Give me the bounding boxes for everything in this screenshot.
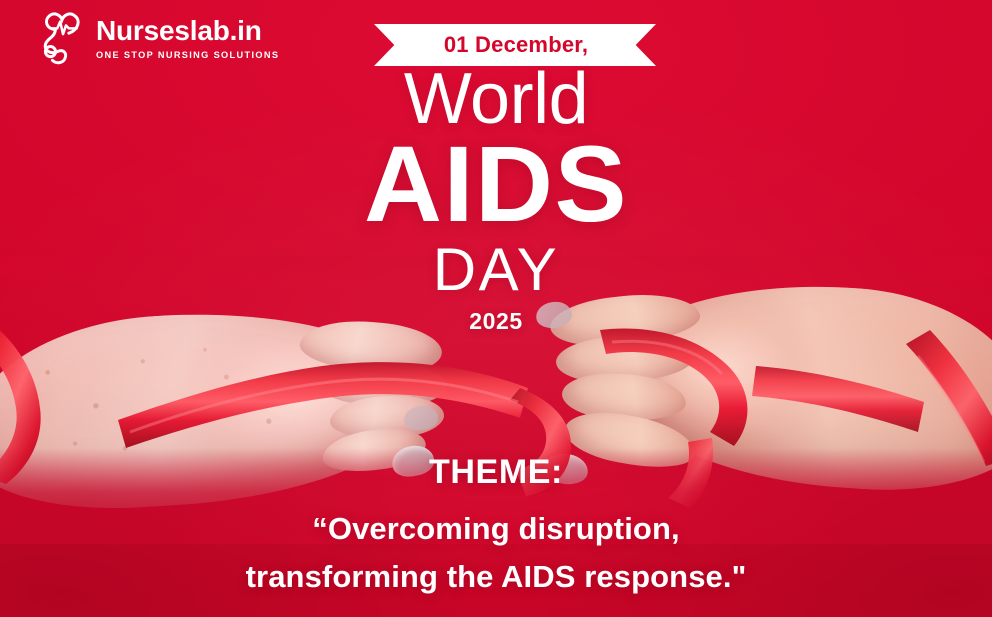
brand-tagline: ONE STOP NURSING SOLUTIONS (96, 51, 279, 60)
stethoscope-heart-ecg-icon (34, 8, 96, 70)
poster-vignette (0, 0, 992, 617)
brand-logo[interactable]: Nurseslab.in ONE STOP NURSING SOLUTIONS (34, 8, 279, 70)
world-aids-day-poster: Nurseslab.in ONE STOP NURSING SOLUTIONS … (0, 0, 992, 617)
date-banner-label: 01 December, (374, 24, 656, 66)
date-banner: 01 December, (374, 24, 656, 66)
brand-logo-text: Nurseslab.in ONE STOP NURSING SOLUTIONS (96, 17, 279, 60)
brand-name: Nurseslab.in (96, 17, 279, 45)
